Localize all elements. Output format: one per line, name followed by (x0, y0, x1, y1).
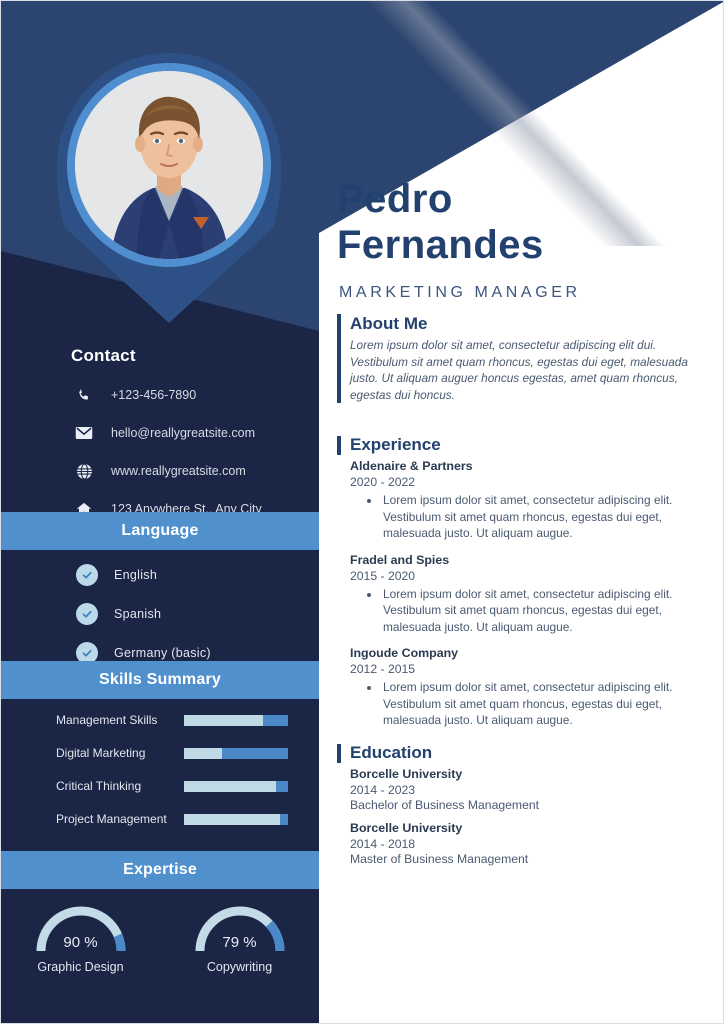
gauge-label: Copywriting (160, 960, 319, 974)
skill-bar-marker (280, 814, 288, 825)
contact-value: hello@reallygreatsite.com (111, 426, 255, 440)
phone-icon (71, 384, 97, 406)
skill-row: Project Management (1, 812, 319, 826)
skill-label: Critical Thinking (56, 779, 184, 793)
experience-entry: Fradel and Spies 2015 - 2020 Lorem ipsum… (337, 553, 709, 636)
about-section: About Me Lorem ipsum dolor sit amet, con… (337, 314, 709, 403)
language-title: Language (121, 522, 198, 540)
gauge-value: 79 % (192, 934, 288, 951)
language-label: Germany (basic) (114, 646, 211, 660)
page-title: Pedro Fernandes (337, 176, 709, 268)
skill-bar-marker (263, 715, 288, 726)
about-text: Lorem ipsum dolor sit amet, consectetur … (350, 337, 709, 403)
expertise-band: Expertise (1, 851, 319, 889)
education-degree: Master of Business Management (350, 852, 709, 866)
contact-title: Contact (71, 346, 319, 366)
skill-label: Management Skills (56, 713, 184, 727)
globe-icon (71, 460, 97, 482)
skill-label: Digital Marketing (56, 746, 184, 760)
skill-bar (184, 748, 288, 759)
experience-heading: Experience (337, 435, 709, 455)
experience-entry: Aldenaire & Partners 2020 - 2022 Lorem i… (337, 459, 709, 542)
expertise-list: 90 % Graphic Design 79 % Copywriting (1, 901, 319, 974)
education-years: 2014 - 2018 (350, 837, 709, 851)
accent-bar (337, 314, 341, 403)
contact-item-phone[interactable]: +123-456-7890 (71, 384, 319, 406)
gauge-label: Graphic Design (1, 960, 160, 974)
language-item[interactable]: English (76, 564, 319, 586)
resume-page: Contact +123-456-7890 hello@reallygreats… (0, 0, 724, 1024)
skill-bar (184, 781, 288, 792)
skill-row: Digital Marketing (1, 746, 319, 760)
profile-photo (75, 71, 263, 259)
skill-bar (184, 814, 288, 825)
contact-value: +123-456-7890 (111, 388, 196, 402)
skills-band: Skills Summary (1, 661, 319, 699)
sidebar: Contact +123-456-7890 hello@reallygreats… (1, 1, 319, 1024)
experience-section: Experience Aldenaire & Partners 2020 - 2… (337, 435, 709, 729)
language-item[interactable]: Spanish (76, 603, 319, 625)
skill-row: Critical Thinking (1, 779, 319, 793)
contact-value: www.reallygreatsite.com (111, 464, 246, 478)
accent-bar (337, 744, 341, 763)
education-entry: Borcelle University 2014 - 2018 Master o… (337, 821, 709, 866)
check-circle-icon (76, 603, 98, 625)
skills-title: Skills Summary (99, 671, 221, 689)
about-body: About Me Lorem ipsum dolor sit amet, con… (337, 314, 709, 403)
skill-label: Project Management (56, 812, 184, 826)
gauge-graphic-design: 90 % (33, 901, 129, 953)
expertise-title: Expertise (123, 861, 197, 879)
skill-bar-marker (276, 781, 288, 792)
language-label: English (114, 568, 157, 582)
experience-years: 2015 - 2020 (350, 569, 709, 583)
expertise-item: 90 % Graphic Design (1, 901, 160, 974)
main-column: Pedro Fernandes MARKETING MANAGER About … (337, 1, 709, 1024)
job-role: MARKETING MANAGER (339, 284, 581, 302)
experience-org: Aldenaire & Partners (350, 459, 709, 473)
skill-bar-marker (222, 748, 288, 759)
experience-years: 2012 - 2015 (350, 662, 709, 676)
education-entry: Borcelle University 2014 - 2023 Bachelor… (337, 767, 709, 812)
envelope-icon (71, 422, 97, 444)
gauge-copywriting: 79 % (192, 901, 288, 953)
experience-bullets: Lorem ipsum dolor sit amet, consectetur … (337, 679, 709, 729)
experience-org: Ingoude Company (350, 646, 709, 660)
about-title: About Me (350, 314, 709, 334)
experience-bullet: Lorem ipsum dolor sit amet, consectetur … (381, 679, 709, 729)
experience-bullets: Lorem ipsum dolor sit amet, consectetur … (337, 492, 709, 542)
accent-bar (337, 436, 341, 455)
experience-title: Experience (350, 435, 441, 455)
education-org: Borcelle University (350, 821, 709, 835)
education-heading: Education (337, 743, 709, 763)
experience-years: 2020 - 2022 (350, 475, 709, 489)
contact-item-website[interactable]: www.reallygreatsite.com (71, 460, 319, 482)
language-band: Language (1, 512, 319, 550)
education-org: Borcelle University (350, 767, 709, 781)
check-circle-icon (76, 564, 98, 586)
education-section: Education Borcelle University 2014 - 202… (337, 743, 709, 866)
first-name: Pedro (337, 176, 709, 222)
expertise-item: 79 % Copywriting (160, 901, 319, 974)
skill-bar (184, 715, 288, 726)
education-degree: Bachelor of Business Management (350, 798, 709, 812)
last-name: Fernandes (337, 222, 709, 268)
skill-row: Management Skills (1, 713, 319, 727)
experience-bullets: Lorem ipsum dolor sit amet, consectetur … (337, 586, 709, 636)
experience-org: Fradel and Spies (350, 553, 709, 567)
gauge-value: 90 % (33, 934, 129, 951)
skills-list: Management Skills Digital Marketing Crit… (1, 713, 319, 845)
experience-bullet: Lorem ipsum dolor sit amet, consectetur … (381, 492, 709, 542)
education-years: 2014 - 2023 (350, 783, 709, 797)
education-title: Education (350, 743, 432, 763)
contact-item-email[interactable]: hello@reallygreatsite.com (71, 422, 319, 444)
contact-section: Contact +123-456-7890 hello@reallygreats… (1, 346, 319, 536)
experience-bullet: Lorem ipsum dolor sit amet, consectetur … (381, 586, 709, 636)
experience-entry: Ingoude Company 2012 - 2015 Lorem ipsum … (337, 646, 709, 729)
language-label: Spanish (114, 607, 161, 621)
